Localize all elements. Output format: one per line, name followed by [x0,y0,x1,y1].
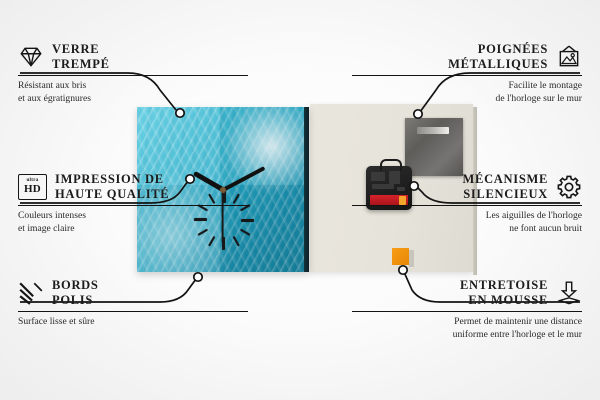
callout-desc-line2: ne font aucun bruit [352,223,582,235]
callout-title: VERRE TREMPÉ [52,42,110,72]
divider [18,205,248,207]
callout-verre-trempe: VERRE TREMPÉ Résistant aux bris et aux é… [18,42,248,105]
divider [352,311,582,313]
callout-title: MÉCANISME SILENCIEUX [463,172,548,202]
callout-desc-line2: et image claire [18,223,248,235]
gear-icon [556,174,582,200]
callout-entretoise-en-mousse: ENTRETOISE EN MOUSSE Permet de maintenir… [352,278,582,341]
callout-desc-line2: de l'horloge sur le mur [352,93,582,105]
mechanism-hook [380,159,402,171]
ultra-hd-badge-icon: ultra HD [18,174,47,200]
divider [18,311,248,313]
divider [352,75,582,77]
callout-desc-line1: Les aiguilles de l'horloge [352,210,582,222]
callout-desc-line1: Permet de maintenir une distance [352,316,582,328]
metal-hanger-plate [405,118,463,176]
callout-title: BORDS POLIS [52,278,99,308]
divider [18,75,248,77]
callout-impression-haute-qualite: ultra HD IMPRESSION DE HAUTE QUALITÉ Cou… [18,172,248,235]
callout-head: POIGNÉES MÉTALLIQUES [352,42,582,72]
diamond-icon [18,44,44,70]
infographic-canvas: VERRE TREMPÉ Résistant aux bris et aux é… [0,0,600,400]
callout-desc-line1: Couleurs intenses [18,210,248,222]
callout-title: POIGNÉES MÉTALLIQUES [448,42,548,72]
callout-head: ENTRETOISE EN MOUSSE [352,278,582,308]
callout-bords-polis: BORDS POLIS Surface lisse et sûre [18,278,248,329]
foam-spacer-arrow-icon [556,280,582,306]
callout-head: ultra HD IMPRESSION DE HAUTE QUALITÉ [18,172,248,202]
callout-title: IMPRESSION DE HAUTE QUALITÉ [55,172,169,202]
callout-desc-line1: Facilite le montage [352,80,582,92]
glass-panel-edge [304,107,309,272]
foam-spacer [392,248,409,265]
hanger-slot [417,127,449,134]
callout-head: VERRE TREMPÉ [18,42,248,72]
callout-head: BORDS POLIS [18,278,248,308]
callout-mecanisme-silencieux: MÉCANISME SILENCIEUX Les aiguilles de l'… [352,172,582,235]
diagonal-lines-icon [18,280,44,306]
callout-head: MÉCANISME SILENCIEUX [352,172,582,202]
callout-desc-line2: et aux égratignures [18,93,248,105]
hanging-frame-icon [556,44,582,70]
divider [352,205,582,207]
callout-desc-line1: Surface lisse et sûre [18,316,248,328]
callout-title: ENTRETOISE EN MOUSSE [460,278,548,308]
callout-desc-line2: uniforme entre l'horloge et le mur [352,329,582,341]
callout-poignees-metalliques: POIGNÉES MÉTALLIQUES Facilite le montage… [352,42,582,105]
callout-desc-line1: Résistant aux bris [18,80,248,92]
